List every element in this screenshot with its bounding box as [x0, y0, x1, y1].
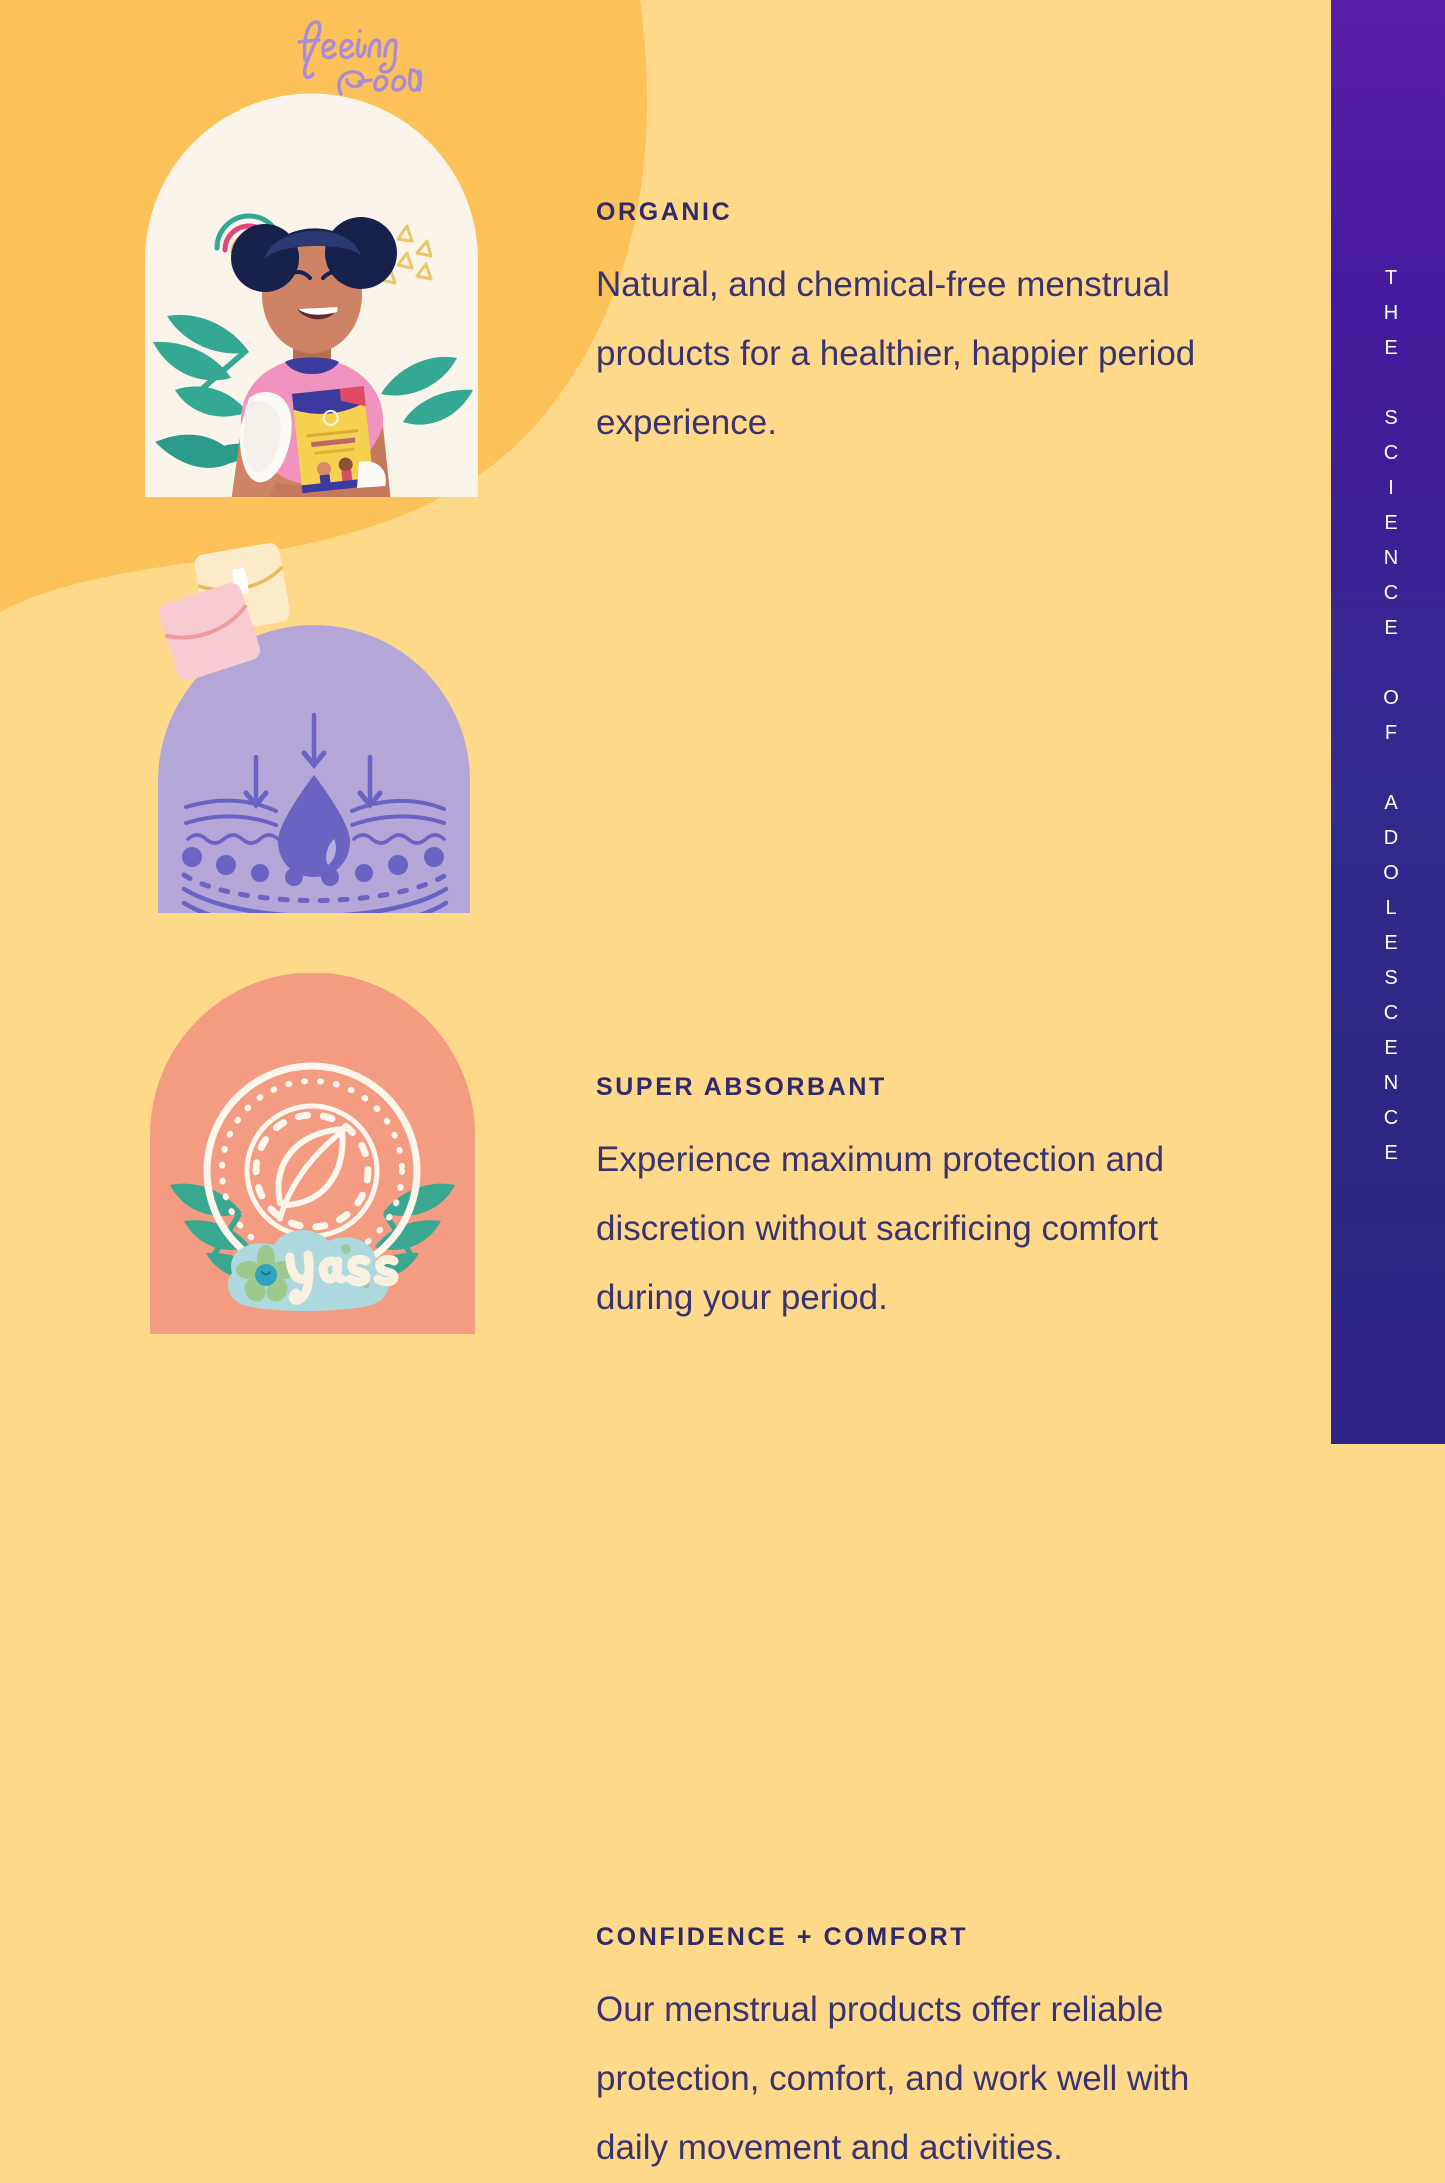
feature-row-organic: ORGANIC Natural, and chemical-free menst… [0, 90, 1332, 510]
confidence-illustration-card [150, 973, 475, 1334]
feature-eyebrow-confidence: CONFIDENCE + COMFORT [596, 1925, 1296, 1950]
smiling-girl-holding-pads-illustration [145, 90, 478, 497]
confidence-copy-block: CONFIDENCE + COMFORT Our menstrual produ… [596, 1925, 1296, 2183]
absorbant-illustration-card [158, 625, 470, 913]
vertical-brand-label: THE SCIENCE OF ADOLESCENCE [1375, 267, 1401, 1177]
feature-list: ORGANIC Natural, and chemical-free menst… [0, 0, 1332, 1444]
feature-body-confidence: Our menstrual products offer reliable pr… [596, 1976, 1256, 2183]
vertical-brand-rail: THE SCIENCE OF ADOLESCENCE [1331, 0, 1445, 1444]
feature-row-super-absorbant: SUPER ABSORBANT Experience maximum prote… [0, 530, 1332, 930]
leaf-badge-yass-sticker-illustration [150, 973, 475, 1334]
organic-copy-block: ORGANIC Natural, and chemical-free menst… [596, 200, 1296, 458]
feature-eyebrow-organic: ORGANIC [596, 200, 1296, 225]
feature-body-organic: Natural, and chemical-free menstrual pro… [596, 251, 1256, 458]
organic-illustration-card [145, 90, 478, 497]
feeling-good-script-logo [293, 10, 423, 100]
feature-row-confidence-comfort: CONFIDENCE + COMFORT Our menstrual produ… [0, 950, 1332, 1350]
pad-packets-illustration [148, 543, 318, 703]
